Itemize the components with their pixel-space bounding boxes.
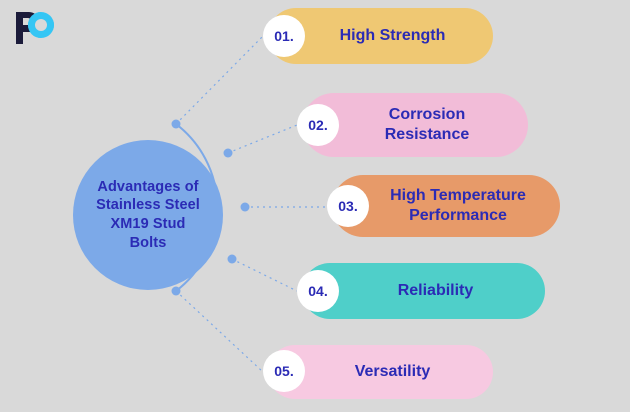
advantage-number-4: 04. bbox=[308, 283, 327, 299]
advantage-badge-1: 01. bbox=[263, 15, 305, 57]
advantage-number-1: 01. bbox=[274, 28, 293, 44]
central-hub-label: Advantages of Stainless Steel XM19 Stud … bbox=[84, 178, 212, 252]
advantage-number-5: 05. bbox=[274, 363, 293, 379]
advantage-number-3: 03. bbox=[338, 198, 357, 214]
central-hub: Advantages of Stainless Steel XM19 Stud … bbox=[73, 140, 223, 290]
advantage-badge-2: 02. bbox=[297, 104, 339, 146]
advantage-number-2: 02. bbox=[308, 117, 327, 133]
advantage-badge-3: 03. bbox=[327, 185, 369, 227]
advantage-badge-5: 05. bbox=[263, 350, 305, 392]
advantage-badge-4: 04. bbox=[297, 270, 339, 312]
infographic-canvas: Advantages of Stainless Steel XM19 Stud … bbox=[0, 0, 630, 412]
